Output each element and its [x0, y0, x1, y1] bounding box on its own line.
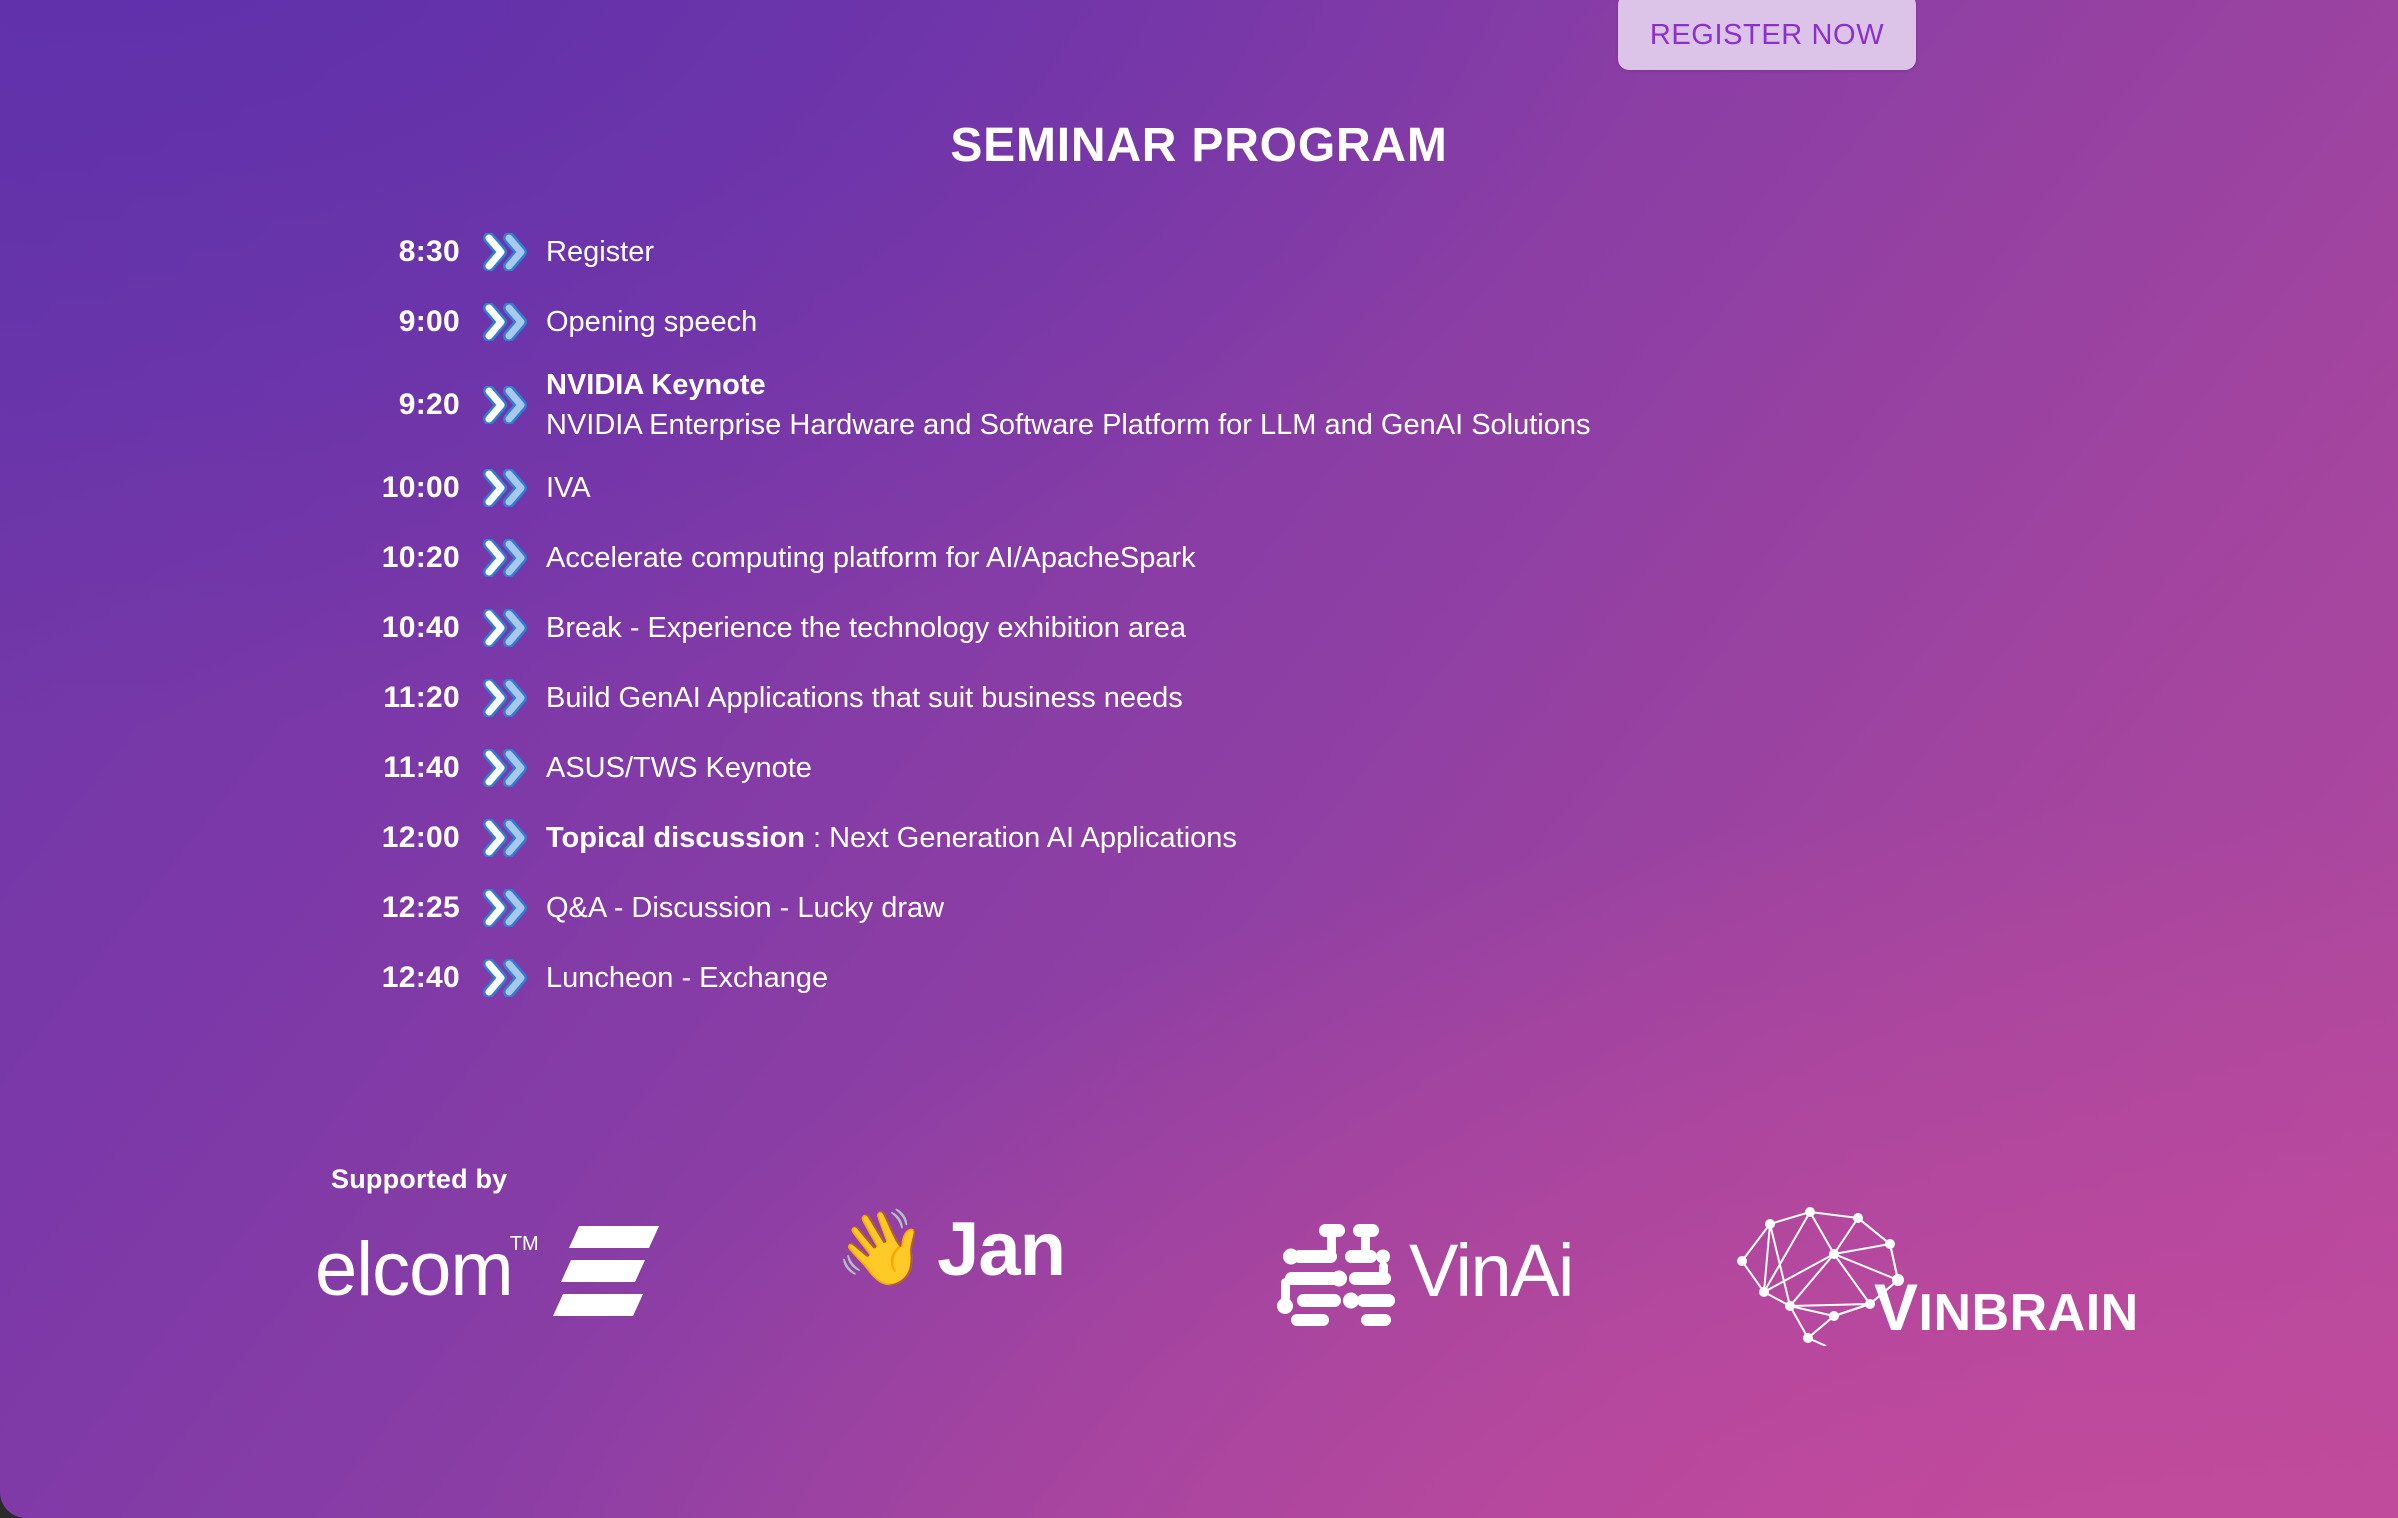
schedule-row-time: 9:00: [330, 305, 460, 339]
double-chevron-icon: [460, 303, 536, 341]
schedule-row-text: NVIDIA KeynoteNVIDIA Enterprise Hardware…: [536, 365, 1591, 445]
schedule-row: 9:20 NVIDIA KeynoteNVIDIA Enterprise Har…: [330, 357, 2230, 453]
schedule-row-time: 12:25: [330, 891, 460, 925]
schedule-row-time: 9:20: [330, 388, 460, 422]
waving-hand-icon: 👋: [835, 1211, 927, 1285]
schedule-row-text: Build GenAI Applications that suit busin…: [536, 678, 1183, 718]
schedule-row-time: 11:20: [330, 681, 460, 715]
supported-by-label: Supported by: [331, 1164, 507, 1195]
schedule-row-bold-prefix: Topical discussion: [546, 822, 805, 854]
double-chevron-icon: [460, 233, 536, 271]
schedule-row-time: 10:20: [330, 541, 460, 575]
seminar-program-page: REGISTER NOW SEMINAR PROGRAM 8:30 Regist…: [0, 0, 2398, 1518]
double-chevron-icon: [460, 679, 536, 717]
register-now-button[interactable]: REGISTER NOW: [1618, 0, 1916, 70]
vinai-network-mark-icon: [1275, 1216, 1395, 1326]
sponsor-logo-vinai: VinAi: [1275, 1216, 1573, 1326]
double-chevron-icon: [460, 609, 536, 647]
elcom-wordmark: elcomTM: [315, 1232, 513, 1308]
schedule-row-time: 11:40: [330, 751, 460, 785]
sponsor-logo-elcom: elcomTM: [315, 1224, 659, 1316]
schedule-row: 12:00 Topical discussion : Next Generati…: [330, 803, 2230, 873]
schedule-list: 8:30 Register9:00 Opening speech9:20 NVI…: [330, 217, 2230, 1013]
vinbrain-wordmark: VINBRAIN: [1874, 1274, 2139, 1340]
schedule-row: 10:00 IVA: [330, 453, 2230, 523]
schedule-row: 8:30 Register: [330, 217, 2230, 287]
elcom-wordmark-text: elcom: [315, 1227, 513, 1312]
schedule-row-subtitle: NVIDIA Enterprise Hardware and Software …: [546, 405, 1591, 445]
double-chevron-icon: [460, 959, 536, 997]
page-title: SEMINAR PROGRAM: [0, 118, 2398, 173]
schedule-row: 11:20 Build GenAI Applications that suit…: [330, 663, 2230, 733]
schedule-row: 11:40 ASUS/TWS Keynote: [330, 733, 2230, 803]
schedule-row-text: Q&A - Discussion - Lucky draw: [536, 888, 944, 928]
schedule-row-text: Register: [536, 232, 654, 272]
schedule-row-text: Luncheon - Exchange: [536, 958, 828, 998]
jan-wordmark: Jan: [937, 1212, 1065, 1288]
double-chevron-icon: [460, 819, 536, 857]
sponsor-logo-vinbrain: VINBRAIN: [1730, 1196, 2139, 1346]
schedule-row-title: NVIDIA Keynote: [546, 365, 1591, 405]
schedule-row-text: Opening speech: [536, 302, 757, 342]
vinbrain-wordmark-rest: INBRAIN: [1919, 1284, 2139, 1342]
elcom-e-mark-icon: [553, 1224, 659, 1316]
schedule-row: 12:25 Q&A - Discussion - Lucky draw: [330, 873, 2230, 943]
schedule-row-time: 10:40: [330, 611, 460, 645]
schedule-row: 10:20 Accelerate computing platform for …: [330, 523, 2230, 593]
schedule-row-text: IVA: [536, 468, 591, 508]
double-chevron-icon: [460, 539, 536, 577]
register-now-label: REGISTER NOW: [1650, 21, 1884, 50]
schedule-row-text-rest: : Next Generation AI Applications: [805, 822, 1237, 854]
sponsor-logos: elcomTM 👋 Jan: [300, 1210, 2350, 1340]
schedule-row-time: 12:00: [330, 821, 460, 855]
double-chevron-icon: [460, 889, 536, 927]
schedule-row-text: Topical discussion : Next Generation AI …: [536, 818, 1237, 858]
schedule-row-time: 8:30: [330, 235, 460, 269]
vinbrain-wordmark-cap: V: [1874, 1270, 1919, 1344]
schedule-row-time: 12:40: [330, 961, 460, 995]
schedule-row: 9:00 Opening speech: [330, 287, 2230, 357]
schedule-row-time: 10:00: [330, 471, 460, 505]
schedule-row-text: Accelerate computing platform for AI/Apa…: [536, 538, 1196, 578]
vinai-wordmark: VinAi: [1409, 1234, 1573, 1308]
schedule-row-text: ASUS/TWS Keynote: [536, 748, 812, 788]
elcom-tm-mark: TM: [510, 1234, 539, 1254]
schedule-row-text: Break - Experience the technology exhibi…: [536, 608, 1186, 648]
double-chevron-icon: [460, 469, 536, 507]
double-chevron-icon: [460, 386, 536, 424]
sponsor-logo-jan: 👋 Jan: [835, 1212, 1065, 1288]
double-chevron-icon: [460, 749, 536, 787]
schedule-row: 12:40 Luncheon - Exchange: [330, 943, 2230, 1013]
schedule-row: 10:40 Break - Experience the technology …: [330, 593, 2230, 663]
